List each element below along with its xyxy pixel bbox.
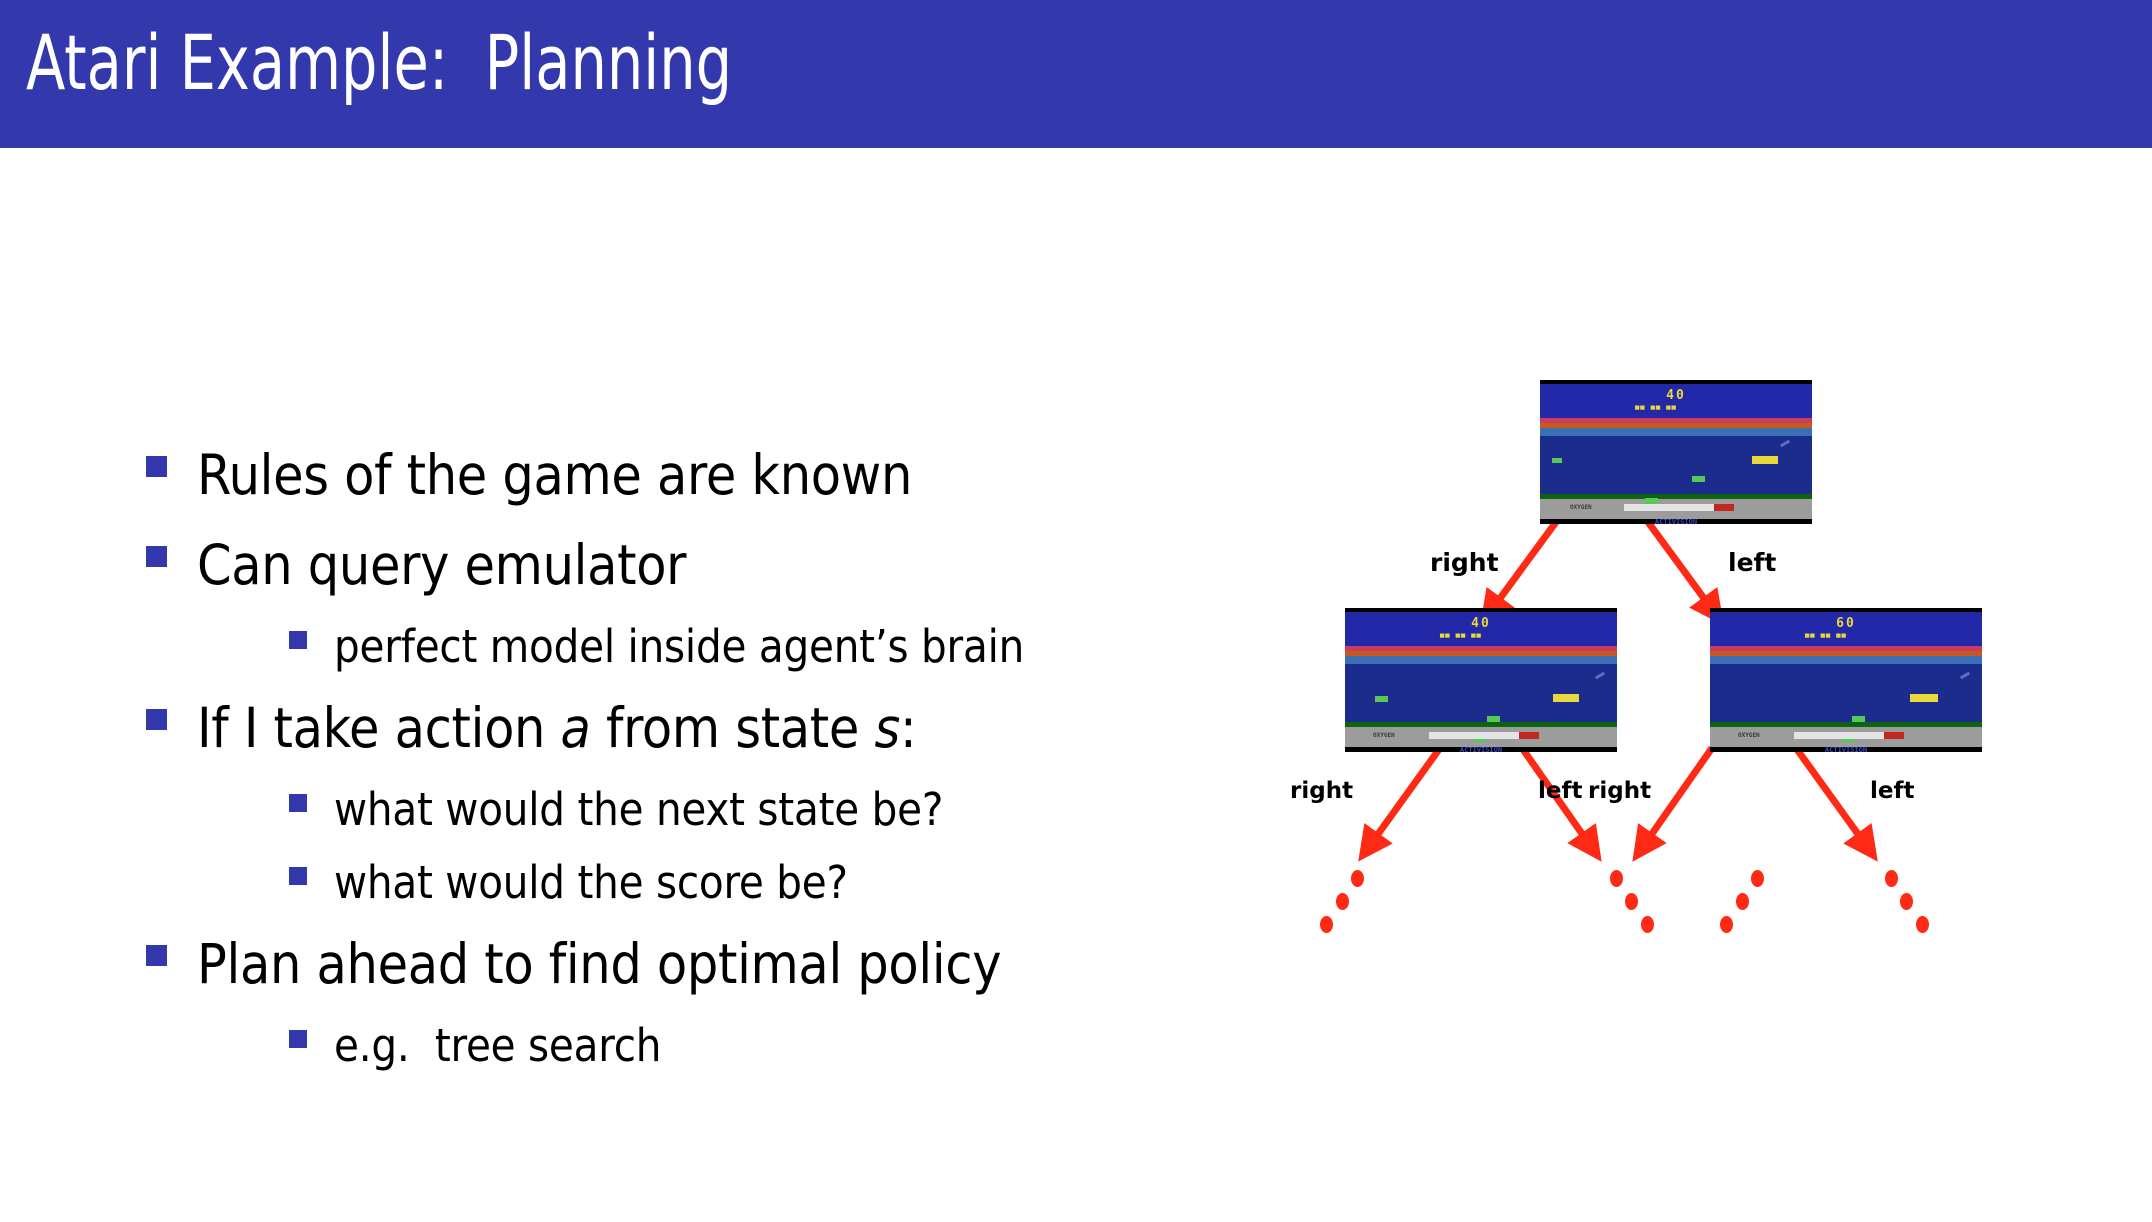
game-brand: ACTIVISION bbox=[1345, 746, 1617, 752]
list-item: e.g. tree search bbox=[0, 1009, 1290, 1082]
edge-label-c1-right: right bbox=[1290, 778, 1353, 804]
ellipsis-dot bbox=[1916, 916, 1929, 933]
edge-c2-left bbox=[1796, 748, 1868, 848]
page-title: Atari Example: Planning bbox=[26, 18, 732, 107]
edge-c2-right bbox=[1642, 748, 1712, 848]
ellipsis-dot bbox=[1351, 870, 1364, 887]
list-item-label: what would the next state be? bbox=[334, 773, 943, 846]
bullet-square-icon bbox=[146, 945, 167, 966]
game-lives: ▄▄ ▄▄ ▄▄ bbox=[1805, 630, 1847, 638]
ellipsis-dot bbox=[1336, 893, 1349, 910]
bullet-square-icon bbox=[289, 631, 307, 649]
oxygen-label: OXYGEN bbox=[1738, 732, 1760, 739]
list-item: Can query emulator bbox=[0, 520, 1290, 610]
bullet-square-icon bbox=[289, 1030, 307, 1048]
tree-node-root: 40 ▄▄ ▄▄ ▄▄ OXYGEN ACTIVISION bbox=[1540, 380, 1812, 524]
ellipsis-dot bbox=[1885, 870, 1898, 887]
bullet-square-icon bbox=[289, 867, 307, 885]
edge-root-right bbox=[1490, 522, 1556, 612]
list-item: Plan ahead to find optimal policy bbox=[0, 919, 1290, 1009]
ellipsis-dot bbox=[1610, 870, 1623, 887]
edge-label-c2-left: left bbox=[1870, 778, 1914, 804]
list-item-label: perfect model inside agent’s brain bbox=[334, 610, 1024, 683]
list-item-label: what would the score be? bbox=[334, 846, 848, 919]
bullet-square-icon bbox=[289, 794, 307, 812]
edge-label-c1-left: left bbox=[1538, 778, 1582, 804]
game-lives: ▄▄ ▄▄ ▄▄ bbox=[1440, 630, 1482, 638]
bullet-square-icon bbox=[146, 456, 167, 477]
game-score: 40 bbox=[1540, 388, 1812, 403]
list-item: what would the next state be? bbox=[0, 773, 1290, 846]
search-tree-diagram: 40 ▄▄ ▄▄ ▄▄ OXYGEN ACTIVISION right left… bbox=[1300, 380, 2120, 1180]
game-score: 60 bbox=[1710, 616, 1982, 631]
edge-label-c2-right: right bbox=[1588, 778, 1651, 804]
tree-node-child-1: 40 ▄▄ ▄▄ ▄▄ OXYGEN ACTIVISION bbox=[1345, 608, 1617, 752]
list-item: Rules of the game are known bbox=[0, 430, 1290, 520]
ellipsis-dot bbox=[1720, 916, 1733, 933]
list-item-label: Plan ahead to find optimal policy bbox=[197, 919, 1001, 1009]
ellipsis-dot bbox=[1320, 916, 1333, 933]
game-brand: ACTIVISION bbox=[1710, 746, 1982, 752]
list-item-label: e.g. tree search bbox=[334, 1009, 661, 1082]
list-item: If I take action a from state s: bbox=[0, 683, 1290, 773]
header-divider bbox=[0, 148, 2152, 154]
list-item-label: Can query emulator bbox=[197, 520, 686, 610]
bullet-square-icon bbox=[146, 709, 167, 730]
ellipsis-dot bbox=[1736, 893, 1749, 910]
list-item: what would the score be? bbox=[0, 846, 1290, 919]
oxygen-label: OXYGEN bbox=[1570, 504, 1592, 511]
edge-root-left bbox=[1648, 522, 1714, 612]
oxygen-label: OXYGEN bbox=[1373, 732, 1395, 739]
list-item-label: Rules of the game are known bbox=[197, 430, 912, 520]
edge-label-root-right: right bbox=[1430, 548, 1499, 577]
game-score: 40 bbox=[1345, 616, 1617, 631]
game-brand: ACTIVISION bbox=[1540, 518, 1812, 524]
tree-node-child-2: 60 ▄▄ ▄▄ ▄▄ OXYGEN ACTIVISION bbox=[1710, 608, 1982, 752]
edge-label-root-left: left bbox=[1728, 548, 1776, 577]
ellipsis-dot bbox=[1625, 893, 1638, 910]
bullet-square-icon bbox=[146, 546, 167, 567]
list-item: perfect model inside agent’s brain bbox=[0, 610, 1290, 683]
ellipsis-dot bbox=[1641, 916, 1654, 933]
ellipsis-dot bbox=[1751, 870, 1764, 887]
ellipsis-dot bbox=[1900, 893, 1913, 910]
edge-c1-right bbox=[1368, 748, 1440, 848]
list-item-label: If I take action a from state s: bbox=[197, 683, 916, 773]
bullet-list: Rules of the game are known Can query em… bbox=[0, 430, 1290, 1082]
game-lives: ▄▄ ▄▄ ▄▄ bbox=[1635, 402, 1677, 410]
